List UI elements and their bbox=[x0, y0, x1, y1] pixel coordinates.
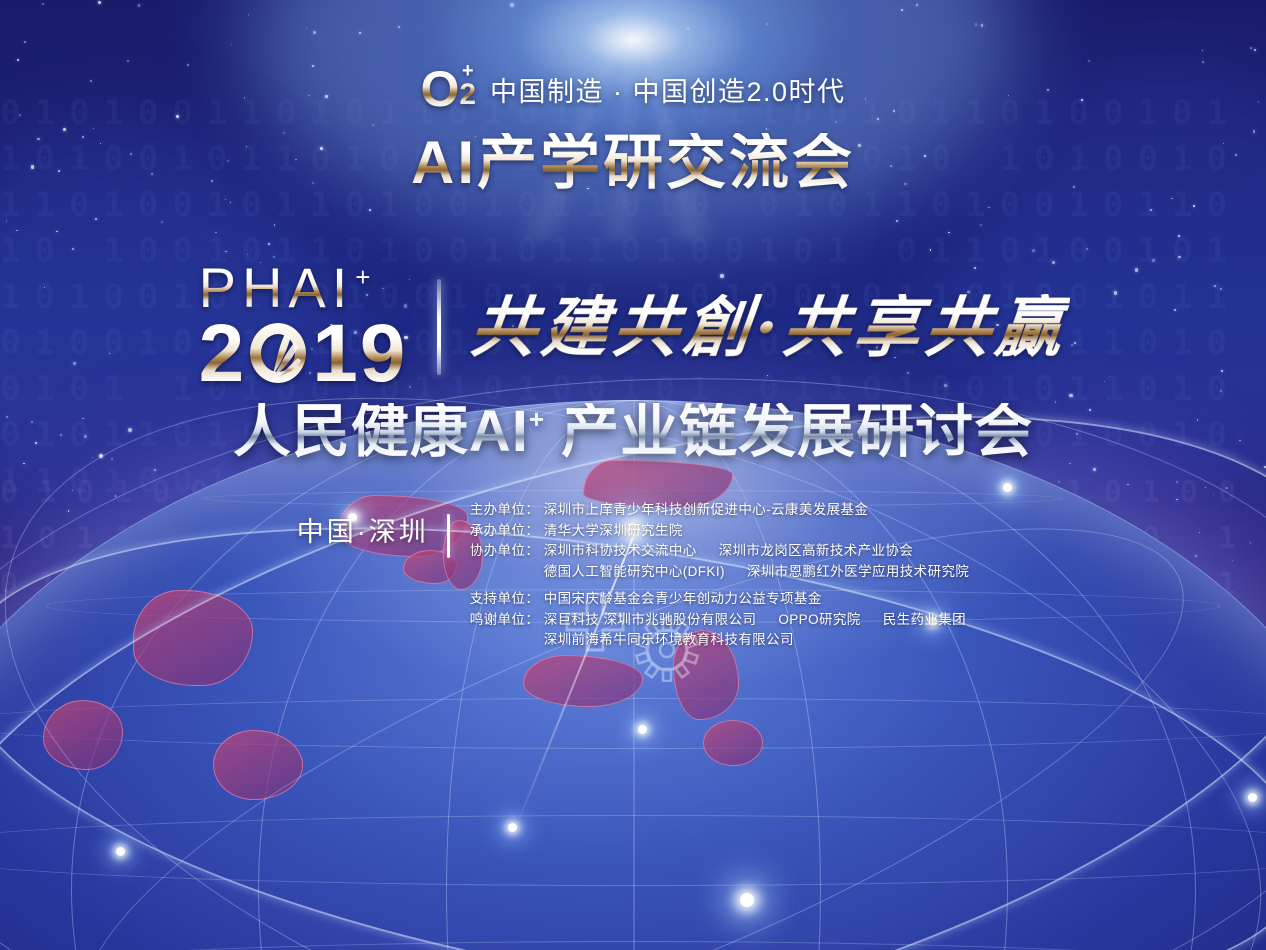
organizer-values: 深圳市科协技术交流中心深圳市龙岗区高新技术产业协会 bbox=[544, 541, 914, 562]
network-node bbox=[740, 893, 754, 907]
organizer-line: 主办单位：深圳市上庠青少年科技创新促进中心-云康美发展基金 bbox=[470, 500, 970, 521]
organizer-label: 承办单位： bbox=[470, 521, 544, 542]
subtitle-lead: 人民健康AI bbox=[233, 403, 529, 461]
organizer-line: 主办单位：德国人工智能研究中心(DFKI)深圳市恩鹏红外医学应用技术研究院 bbox=[470, 562, 970, 583]
organizer-line: 协办单位：深圳市科协技术交流中心深圳市龙岗区高新技术产业协会 bbox=[470, 541, 970, 562]
year-suffix: 19 bbox=[312, 315, 407, 392]
slogan-calligraphy: 共建共創·共享共贏 bbox=[468, 294, 1071, 360]
organizer-label: 支持单位： bbox=[470, 589, 544, 610]
organizer-value: 清华大学深圳研究生院 bbox=[544, 521, 683, 542]
lockup-divider bbox=[437, 279, 441, 375]
phai-brand-block: PHAI + 2 bbox=[199, 262, 408, 392]
year-2019: 2 bbox=[199, 315, 408, 392]
subtitle-superscript-plus: + bbox=[529, 406, 545, 432]
o2-subscript-two: 2 bbox=[459, 81, 476, 109]
organizer-value: 德国人工智能研究中心(DFKI) bbox=[544, 562, 725, 583]
organizer-line: 支持单位：中国宋庆龄基金会青少年创动力公益专项基金 bbox=[470, 589, 970, 610]
organizer-value: 深巨科技 深圳市兆驰股份有限公司 bbox=[544, 610, 757, 631]
organizer-value: 深圳市恩鹏红外医学应用技术研究院 bbox=[747, 562, 969, 583]
organizer-value: OPPO研究院 bbox=[778, 610, 860, 631]
organizer-values: 深圳市上庠青少年科技创新促进中心-云康美发展基金 bbox=[544, 500, 869, 521]
subtitle-headline: 人民健康AI + 产业链发展研讨会 bbox=[0, 403, 1266, 461]
network-node bbox=[638, 725, 647, 734]
organizer-values: 深圳前海希牛同乐环境教育科技有限公司 bbox=[544, 630, 794, 651]
brand-lockup-row: PHAI + 2 bbox=[0, 262, 1266, 392]
orbit-rings bbox=[0, 400, 1266, 950]
organizer-label: 协办单位： bbox=[470, 541, 544, 562]
year-zero-swoosh-icon bbox=[246, 317, 312, 389]
organizer-label: 鸣谢单位： bbox=[470, 610, 544, 631]
poster-canvas: 0101001101011010100101100101101001011010… bbox=[0, 0, 1266, 950]
info-row: 中国·深圳 主办单位：深圳市上庠青少年科技创新促进中心-云康美发展基金承办单位：… bbox=[0, 500, 1266, 651]
organizer-line: 鸣谢单位：深巨科技 深圳市兆驰股份有限公司OPPO研究院民生药业集团 bbox=[470, 610, 970, 631]
organizer-values: 深巨科技 深圳市兆驰股份有限公司OPPO研究院民生药业集团 bbox=[544, 610, 966, 631]
main-headline: AI产学研交流会 bbox=[0, 133, 1266, 193]
organizer-line: 主办单位：深圳前海希牛同乐环境教育科技有限公司 bbox=[470, 630, 970, 651]
kicker-row: O + 2 中国制造 · 中国创造2.0时代 bbox=[0, 64, 1266, 114]
o2-letter-o: O bbox=[420, 64, 458, 114]
info-divider bbox=[447, 514, 450, 558]
network-node bbox=[1248, 793, 1257, 802]
phai-plus-sign: + bbox=[355, 264, 376, 290]
kicker-tagline: 中国制造 · 中国创造2.0时代 bbox=[490, 70, 846, 109]
organizer-value: 深圳市科协技术交流中心 bbox=[544, 541, 697, 562]
subtitle-tail: 产业链发展研讨会 bbox=[561, 403, 1033, 461]
organizer-values: 中国宋庆龄基金会青少年创动力公益专项基金 bbox=[544, 589, 822, 610]
organizer-value: 民生药业集团 bbox=[883, 610, 966, 631]
network-node bbox=[116, 847, 125, 856]
phai-wordmark: PHAI + bbox=[199, 262, 377, 315]
organizer-list: 主办单位：深圳市上庠青少年科技创新促进中心-云康美发展基金承办单位：清华大学深圳… bbox=[470, 500, 970, 651]
organizer-line: 承办单位：清华大学深圳研究生院 bbox=[470, 521, 970, 542]
city-label: 中国·深圳 bbox=[297, 510, 429, 549]
phai-letters: PHAI bbox=[199, 262, 354, 315]
organizer-value: 中国宋庆龄基金会青少年创动力公益专项基金 bbox=[544, 589, 822, 610]
organizer-value: 深圳市上庠青少年科技创新促进中心-云康美发展基金 bbox=[544, 500, 869, 521]
organizer-label: 主办单位： bbox=[470, 500, 544, 521]
o2-plus-icon: O + 2 bbox=[420, 64, 476, 114]
year-prefix: 2 bbox=[199, 315, 247, 392]
network-node bbox=[1003, 483, 1012, 492]
organizer-values: 德国人工智能研究中心(DFKI)深圳市恩鹏红外医学应用技术研究院 bbox=[544, 562, 970, 583]
organizer-values: 清华大学深圳研究生院 bbox=[544, 521, 683, 542]
organizer-value: 深圳前海希牛同乐环境教育科技有限公司 bbox=[544, 630, 794, 651]
o2-plus-sign: + bbox=[462, 66, 474, 77]
organizer-value: 深圳市龙岗区高新技术产业协会 bbox=[719, 541, 914, 562]
